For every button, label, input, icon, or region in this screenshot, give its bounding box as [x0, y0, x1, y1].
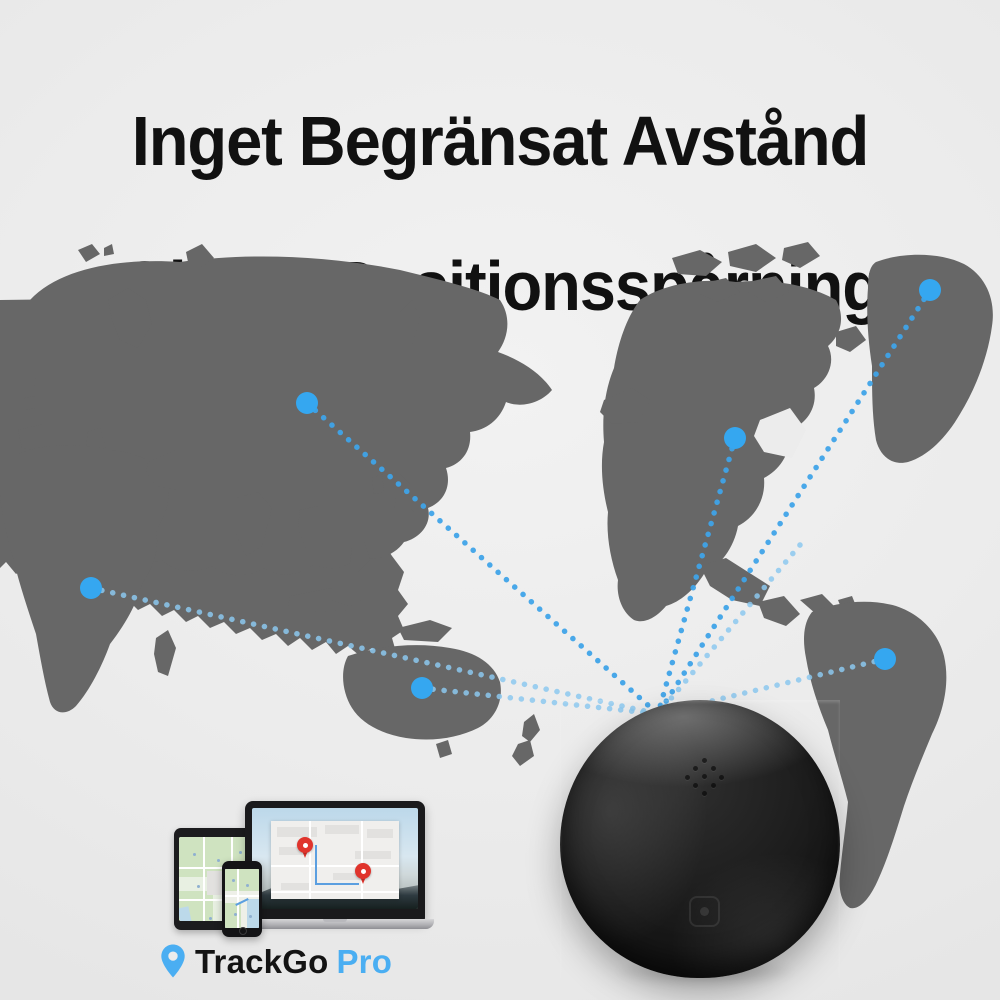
logo-brand: TrackGo [195, 943, 328, 980]
tasmania [436, 740, 452, 758]
smartphone-device [222, 861, 262, 937]
power-button-icon[interactable] [689, 896, 720, 927]
laptop-device [245, 801, 425, 931]
logo-text: TrackGoPro [195, 945, 392, 978]
world-map [0, 0, 1000, 1000]
new-guinea [398, 620, 452, 642]
iceland [836, 326, 866, 352]
laptop-map-screen [271, 821, 399, 899]
landmasses [0, 242, 993, 908]
node-south-america[interactable] [874, 648, 896, 670]
node-north-america[interactable] [724, 427, 746, 449]
node-greenland[interactable] [919, 279, 941, 301]
brand-logo: TrackGoPro [160, 938, 460, 984]
phone-home-button [239, 927, 247, 935]
africa [0, 445, 168, 712]
map-pin-icon [160, 944, 186, 978]
tracker-body [560, 700, 840, 978]
node-asia[interactable] [296, 392, 318, 414]
laptop-notch [323, 919, 347, 922]
new-zealand [512, 714, 540, 766]
speaker-grille-icon [682, 758, 728, 798]
madagascar [154, 630, 176, 676]
node-australia[interactable] [411, 677, 433, 699]
world-map-svg [0, 0, 1000, 1000]
logo-suffix: Pro [336, 943, 392, 980]
phone-screen [225, 869, 259, 928]
gps-tracker-device [560, 700, 840, 978]
laptop-bezel [245, 801, 425, 921]
promo-banner: Inget Begränsat Avstånd Global Positions… [0, 0, 1000, 1000]
device-cluster [160, 795, 440, 945]
central-america [758, 596, 800, 626]
baja-mexico [700, 558, 770, 606]
svalbard [78, 244, 114, 262]
node-africa[interactable] [80, 577, 102, 599]
